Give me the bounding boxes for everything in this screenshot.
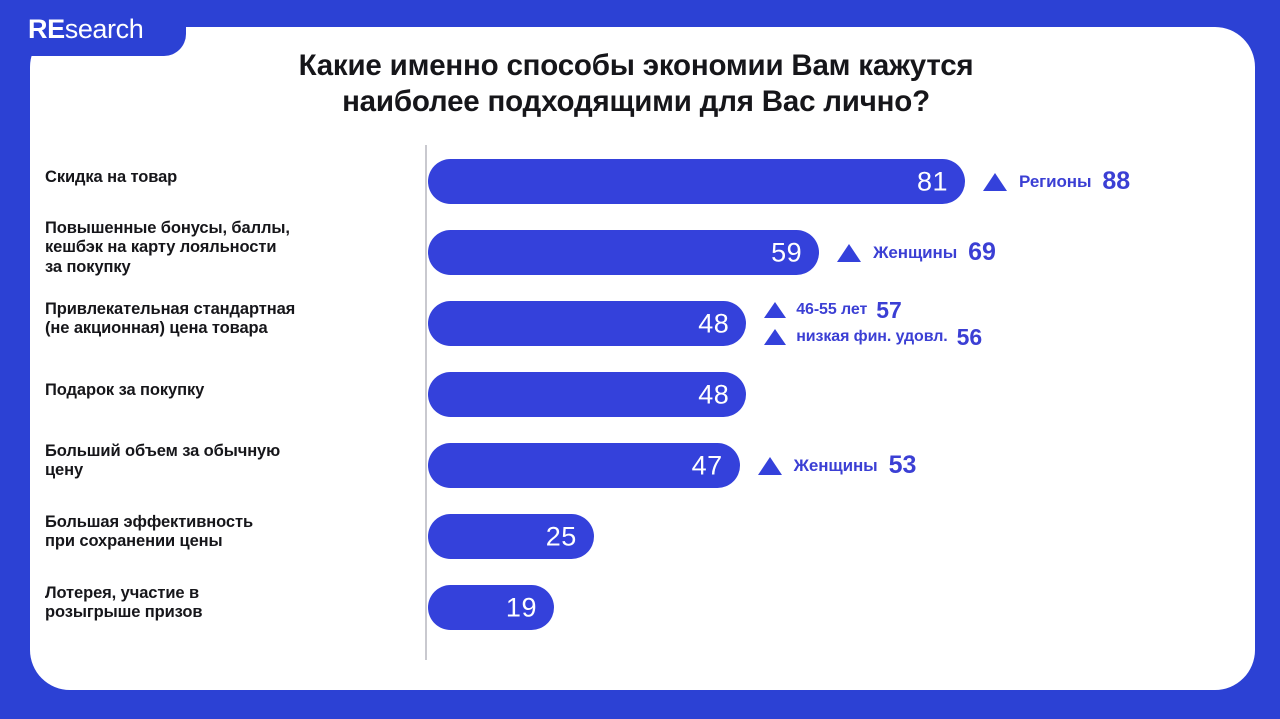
brand-logo-rest: search [65,14,144,44]
chart-row-label: Скидка на товар [45,168,415,187]
triangle-up-icon [837,244,861,262]
chart-annotation-value: 53 [889,453,917,478]
chart-bar[interactable]: 48 [428,301,746,346]
brand-logo-tab: REsearch [0,0,186,56]
chart-bar-value: 48 [698,310,729,337]
chart-bar[interactable]: 47 [428,443,740,488]
chart-row-label-line: кешбэк на карту лояльности [45,238,415,257]
chart-row: Больший объем за обычнуюцену47Женщины53 [0,430,1225,501]
chart-bar-container[interactable]: 25 [428,514,594,559]
chart-row-label-line: Подарок за покупку [45,381,415,400]
chart-bar-container[interactable]: 48 [428,372,746,417]
chart-bar-container[interactable]: 47 [428,443,740,488]
triangle-up-icon [983,173,1007,191]
chart-annotation-label: Женщины [873,244,957,261]
brand-logo-text: REsearch [28,14,143,45]
chart-annotation-value: 57 [876,299,902,322]
chart-row: Подарок за покупку48 [0,359,1225,430]
chart-bar-value: 59 [771,239,802,266]
chart-row-label: Большая эффективностьпри сохранении цены [45,513,415,552]
chart-bar-value: 25 [546,523,577,550]
chart-row: Лотерея, участие врозыгрыше призов19 [0,572,1225,643]
page-title-line-1: Какие именно способы экономии Вам кажутс… [186,48,1086,84]
chart-annotation-value: 88 [1102,169,1130,194]
chart-row-annotations: Женщины53 [758,443,917,488]
chart-bar[interactable]: 59 [428,230,819,275]
chart-annotation: Женщины69 [837,240,996,265]
chart-row: Скидка на товар81Регионы88 [0,146,1225,217]
chart-annotation: 46-55 лет57 [764,299,982,322]
chart-annotation-value: 69 [968,240,996,265]
chart-row-label: Повышенные бонусы, баллы,кешбэк на карту… [45,219,415,277]
chart-row: Привлекательная стандартная(не акционная… [0,288,1225,359]
triangle-up-icon [764,302,786,318]
chart-row-label-line: Большая эффективность [45,513,415,532]
chart-annotation-label: 46-55 лет [796,302,867,318]
chart-annotation-value: 56 [957,326,983,349]
chart-annotation-label: низкая фин. удовл. [796,329,947,345]
chart-bar-value: 48 [698,381,729,408]
chart-row-annotations: 46-55 лет57низкая фин. удовл.56 [764,301,982,346]
chart-row-label-line: Повышенные бонусы, баллы, [45,219,415,238]
chart-bar-container[interactable]: 19 [428,585,554,630]
chart-row-label-line: розыгрыше призов [45,603,415,622]
chart-row-annotations: Регионы88 [983,159,1130,204]
chart-row-annotations: Женщины69 [837,230,996,275]
chart-row-label: Больший объем за обычнуюцену [45,442,415,481]
chart-annotation: Регионы88 [983,169,1130,194]
chart-row-label-line: (не акционная) цена товара [45,319,415,338]
chart-bar[interactable]: 81 [428,159,965,204]
chart-row-label: Привлекательная стандартная(не акционная… [45,300,415,339]
chart-row-label-line: при сохранении цены [45,532,415,551]
chart-annotation-label: Женщины [794,457,878,474]
chart-row-label: Подарок за покупку [45,381,415,400]
triangle-up-icon [758,457,782,475]
chart-annotation-label: Регионы [1019,173,1091,190]
chart-bar-container[interactable]: 48 [428,301,746,346]
brand-logo-bold: RE [28,14,65,44]
chart-row: Большая эффективностьпри сохранении цены… [0,501,1225,572]
chart-row-label-line: Скидка на товар [45,168,415,187]
slide-root: REsearch Какие именно способы экономии В… [0,0,1280,719]
chart-annotation: Женщины53 [758,453,917,478]
chart-bar-value: 47 [692,452,723,479]
page-title: Какие именно способы экономии Вам кажутс… [186,48,1086,120]
chart-bar[interactable]: 25 [428,514,594,559]
page-title-line-2: наиболее подходящими для Вас лично? [186,84,1086,120]
chart-annotation: низкая фин. удовл.56 [764,326,982,349]
chart-bar-container[interactable]: 59 [428,230,819,275]
triangle-up-icon [764,329,786,345]
chart-bar-value: 81 [917,168,948,195]
chart-bar-container[interactable]: 81 [428,159,965,204]
chart-row-label-line: Привлекательная стандартная [45,300,415,319]
chart-bar-value: 19 [506,594,537,621]
chart-row: Повышенные бонусы, баллы,кешбэк на карту… [0,217,1225,288]
chart-bar[interactable]: 48 [428,372,746,417]
chart-bar[interactable]: 19 [428,585,554,630]
chart-row-label-line: за покупку [45,258,415,277]
chart-row-label-line: Больший объем за обычную [45,442,415,461]
chart-row-label-line: Лотерея, участие в [45,584,415,603]
chart-row-label: Лотерея, участие врозыгрыше призов [45,584,415,623]
chart-row-label-line: цену [45,461,415,480]
bar-chart: Скидка на товар81Регионы88Повышенные бон… [0,118,1225,663]
